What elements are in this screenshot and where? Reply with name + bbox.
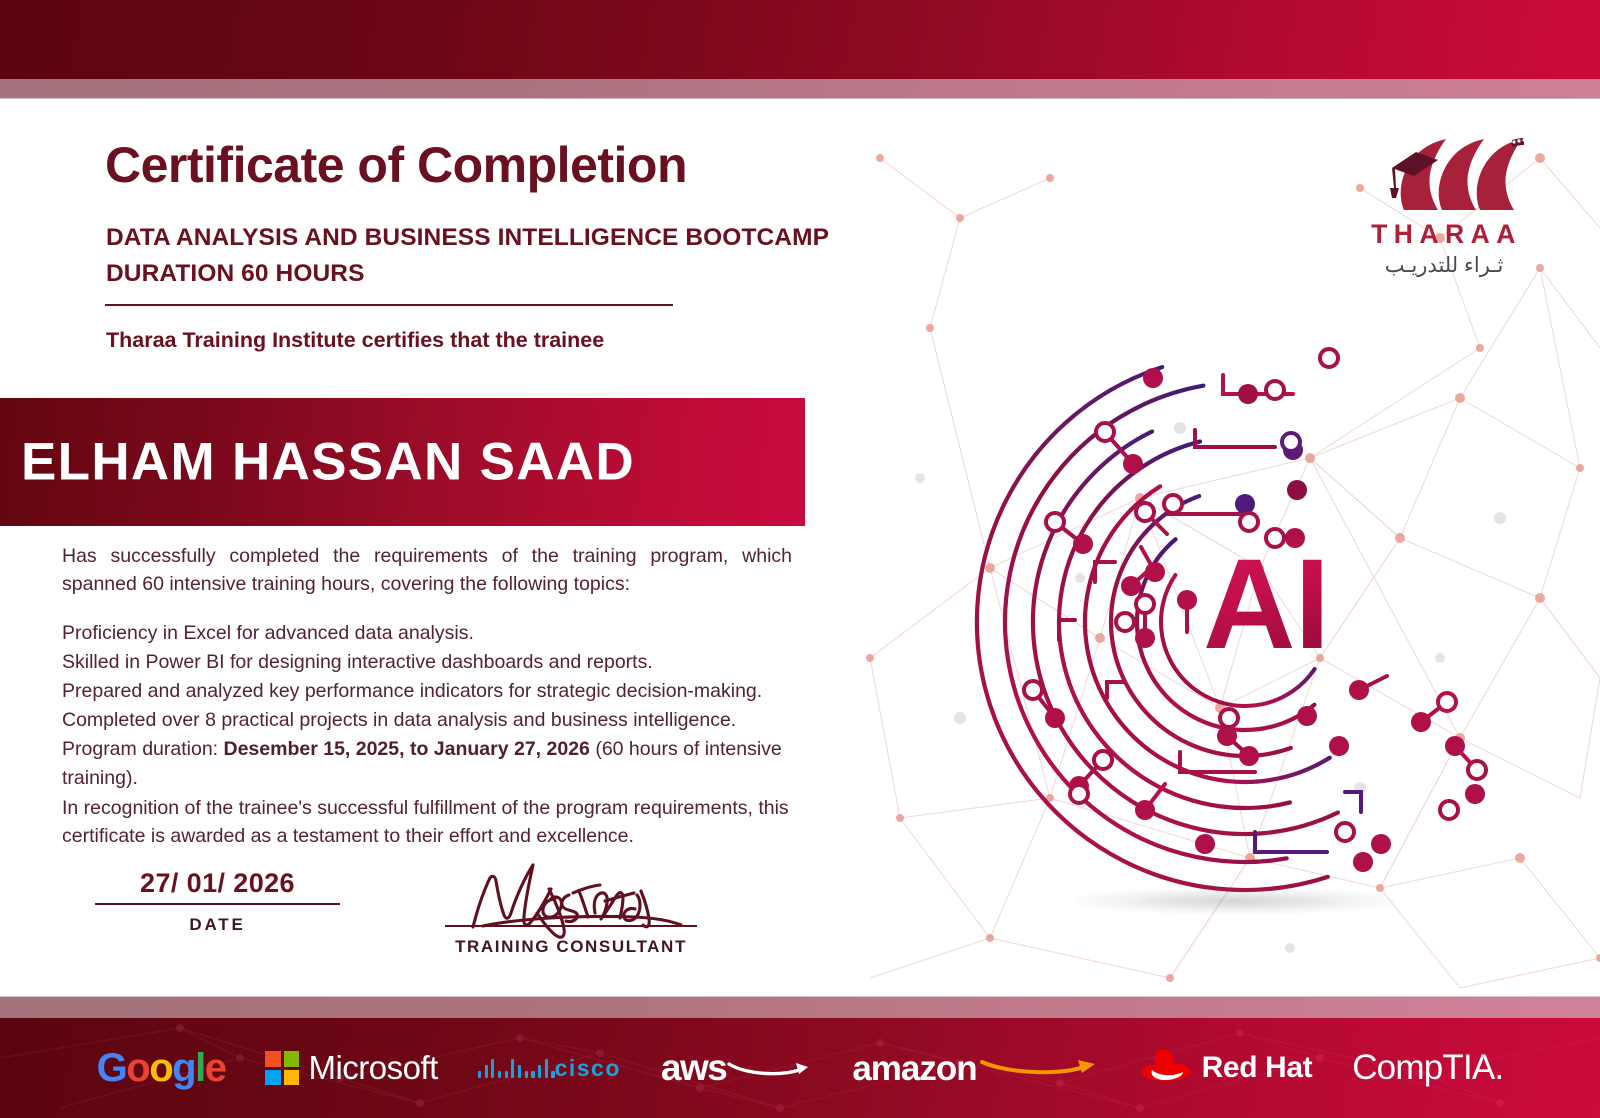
partner-logo-aws: aws [661,1051,812,1084]
google-letter-o2: o [149,1046,172,1091]
bottom-border-accent-band [0,997,1600,1018]
aws-smile-arrow-icon [726,1061,812,1075]
recipient-name-banner: ELHAM HASSAN SAAD [0,398,805,526]
ai-graphic-shadow [1075,888,1395,914]
microsoft-squares-icon [265,1051,299,1085]
tharaa-flames-graduation-cap-icon [1360,136,1528,214]
top-border-accent-band [0,79,1600,98]
program-duration-line: Program duration: Desember 15, 2025, to … [62,735,822,793]
aws-wordmark: aws [661,1051,726,1084]
amazon-smile-arrow-icon [977,1059,1099,1074]
duration-prefix: Program duration: [62,738,224,760]
partner-logos-row: Google Microsoft cisco aws amazon [0,1018,1600,1118]
tharaa-arabic-wordmark: ثـراء للتدريـب [1360,253,1528,278]
certificate-page: Certificate of Completion DATA ANALYSIS … [0,0,1600,1118]
google-letter-g2: g [172,1046,195,1091]
redhat-wordmark: Red Hat [1202,1051,1313,1085]
partner-logo-amazon: amazon [852,1051,1098,1086]
google-letter-l: l [195,1046,205,1091]
google-letter-e: e [205,1046,226,1091]
consultant-signature-block: TRAINING CONSULTANT [445,855,697,957]
date-value: 27/ 01/ 2026 [95,868,340,903]
partner-logo-redhat: Red Hat [1139,1047,1313,1090]
program-duration: DURATION 60 HOURS [106,256,829,292]
cisco-wordmark: cisco [555,1055,621,1082]
page-title: Certificate of Completion [105,139,687,192]
handwritten-signature-icon [445,855,697,925]
topic-item: Proficiency in Excel for advanced data a… [62,619,822,648]
amazon-wordmark: amazon [852,1051,976,1086]
recognition-text: In recognition of the trainee's successf… [62,795,807,850]
microsoft-wordmark: Microsoft [308,1049,437,1087]
top-border-band [0,0,1600,79]
topic-item: Completed over 8 practical projects in d… [62,706,822,735]
topic-item: Skilled in Power BI for designing intera… [62,648,822,677]
comptia-wordmark: CompTIA. [1352,1048,1503,1088]
redhat-fedora-icon [1139,1047,1195,1090]
top-border-hairline [0,97,1600,99]
certifies-statement: Tharaa Training Institute certifies that… [106,328,604,353]
title-divider [105,304,673,306]
partner-logo-comptia: CompTIA. [1352,1048,1503,1088]
tharaa-wordmark: THARAA [1360,219,1528,250]
partner-logo-google: Google [97,1046,226,1091]
ai-center-label: AI [1203,541,1329,669]
date-signature-block: 27/ 01/ 2026 DATE [95,868,340,935]
cisco-bridge-icon [478,1059,555,1078]
program-subtitle: DATA ANALYSIS AND BUSINESS INTELLIGENCE … [106,220,829,291]
topics-list: Proficiency in Excel for advanced data a… [62,619,822,793]
date-label: DATE [95,905,340,935]
body-intro-text: Has successfully completed the requireme… [62,543,792,598]
recipient-name: ELHAM HASSAN SAAD [21,432,635,493]
google-letter-o1: o [126,1046,149,1091]
program-name: DATA ANALYSIS AND BUSINESS INTELLIGENCE … [106,220,829,256]
google-letter-g1: G [97,1046,127,1091]
tharaa-logo: THARAA ثـراء للتدريـب [1360,136,1528,278]
duration-dates: Desember 15, 2025, to January 27, 2026 [224,738,590,760]
partner-logo-cisco: cisco [478,1054,621,1082]
topic-item: Prepared and analyzed key performance in… [62,677,822,706]
partner-logo-microsoft: Microsoft [265,1049,437,1087]
